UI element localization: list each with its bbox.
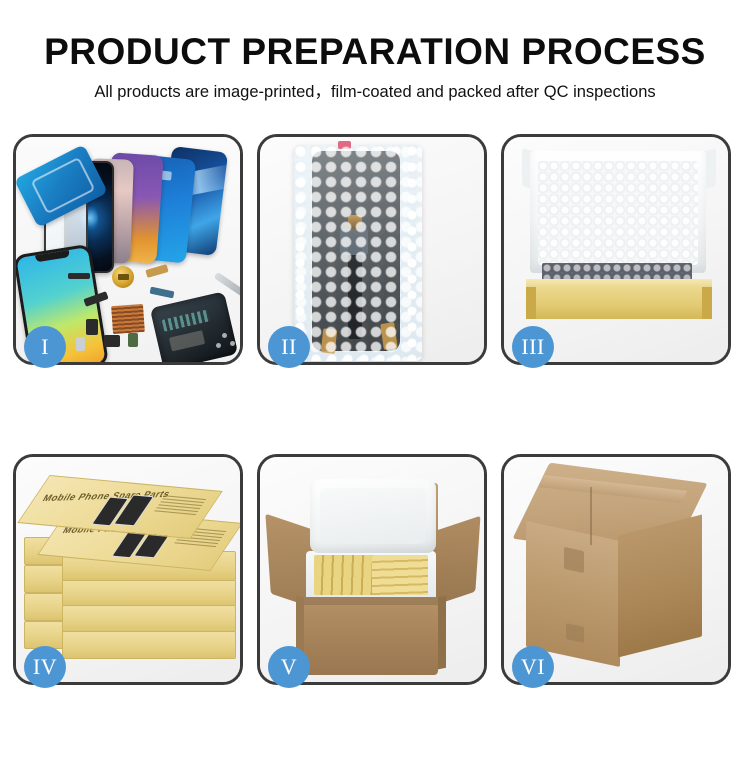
yellow-box-edge-left [526, 287, 536, 319]
bubble-texture-overlay [294, 145, 422, 361]
carton-seam [590, 487, 592, 545]
process-step-panel-1[interactable]: I [13, 134, 243, 365]
step-badge-4: IV [24, 646, 66, 688]
carton-tab-upper [564, 547, 584, 573]
yellow-box-stack: Mobile Phone Spare Parts Mobile Phone Sp… [22, 479, 236, 669]
stacked-box [62, 605, 236, 633]
page-subtitle: All products are image-printed，film-coat… [0, 80, 750, 104]
step-badge-2: II [268, 326, 310, 368]
screw-part [222, 333, 227, 338]
vibration-motor-part [112, 266, 134, 288]
earpiece-part [104, 335, 120, 347]
yellow-boxes-inside-row2 [372, 555, 428, 595]
process-step-panel-2[interactable]: II [257, 134, 487, 365]
step-badge-6: VI [512, 646, 554, 688]
step-badge-3: III [512, 326, 554, 368]
step-badge-5: V [268, 646, 310, 688]
camera-module-part [86, 319, 98, 335]
process-step-panel-3[interactable]: III [501, 134, 731, 365]
stacked-box [24, 565, 66, 593]
process-step-panel-5[interactable]: V [257, 454, 487, 685]
carton-right-face [618, 515, 702, 658]
carton-front-face [304, 597, 438, 675]
screw-part [216, 343, 221, 348]
foam-padding-sheet [538, 161, 698, 265]
yellow-box-edge-right [702, 287, 712, 319]
foam-box-lid-open [310, 479, 436, 553]
battery-connector-part [128, 333, 138, 347]
page-title: PRODUCT PREPARATION PROCESS [0, 30, 750, 74]
stacked-box [24, 593, 66, 621]
page-header: PRODUCT PREPARATION PROCESS All products… [0, 0, 750, 104]
stacked-box [62, 631, 236, 659]
process-step-grid: I II III [6, 134, 744, 774]
yellow-box-front [526, 287, 712, 319]
process-step-panel-6[interactable]: VI [501, 454, 731, 685]
printed-box-top-first: Mobile Phone Spare Parts [17, 475, 223, 539]
stacked-box [62, 579, 236, 607]
copper-mesh-part [111, 304, 145, 334]
sim-tray-part [76, 337, 85, 351]
process-step-panel-4[interactable]: Mobile Phone Spare Parts Mobile Phone Sp… [13, 454, 243, 685]
step-badge-1: I [24, 326, 66, 368]
carton-front-face [526, 521, 620, 667]
screw-part [230, 341, 235, 346]
speaker-part [68, 273, 90, 279]
stacked-box [24, 621, 66, 649]
